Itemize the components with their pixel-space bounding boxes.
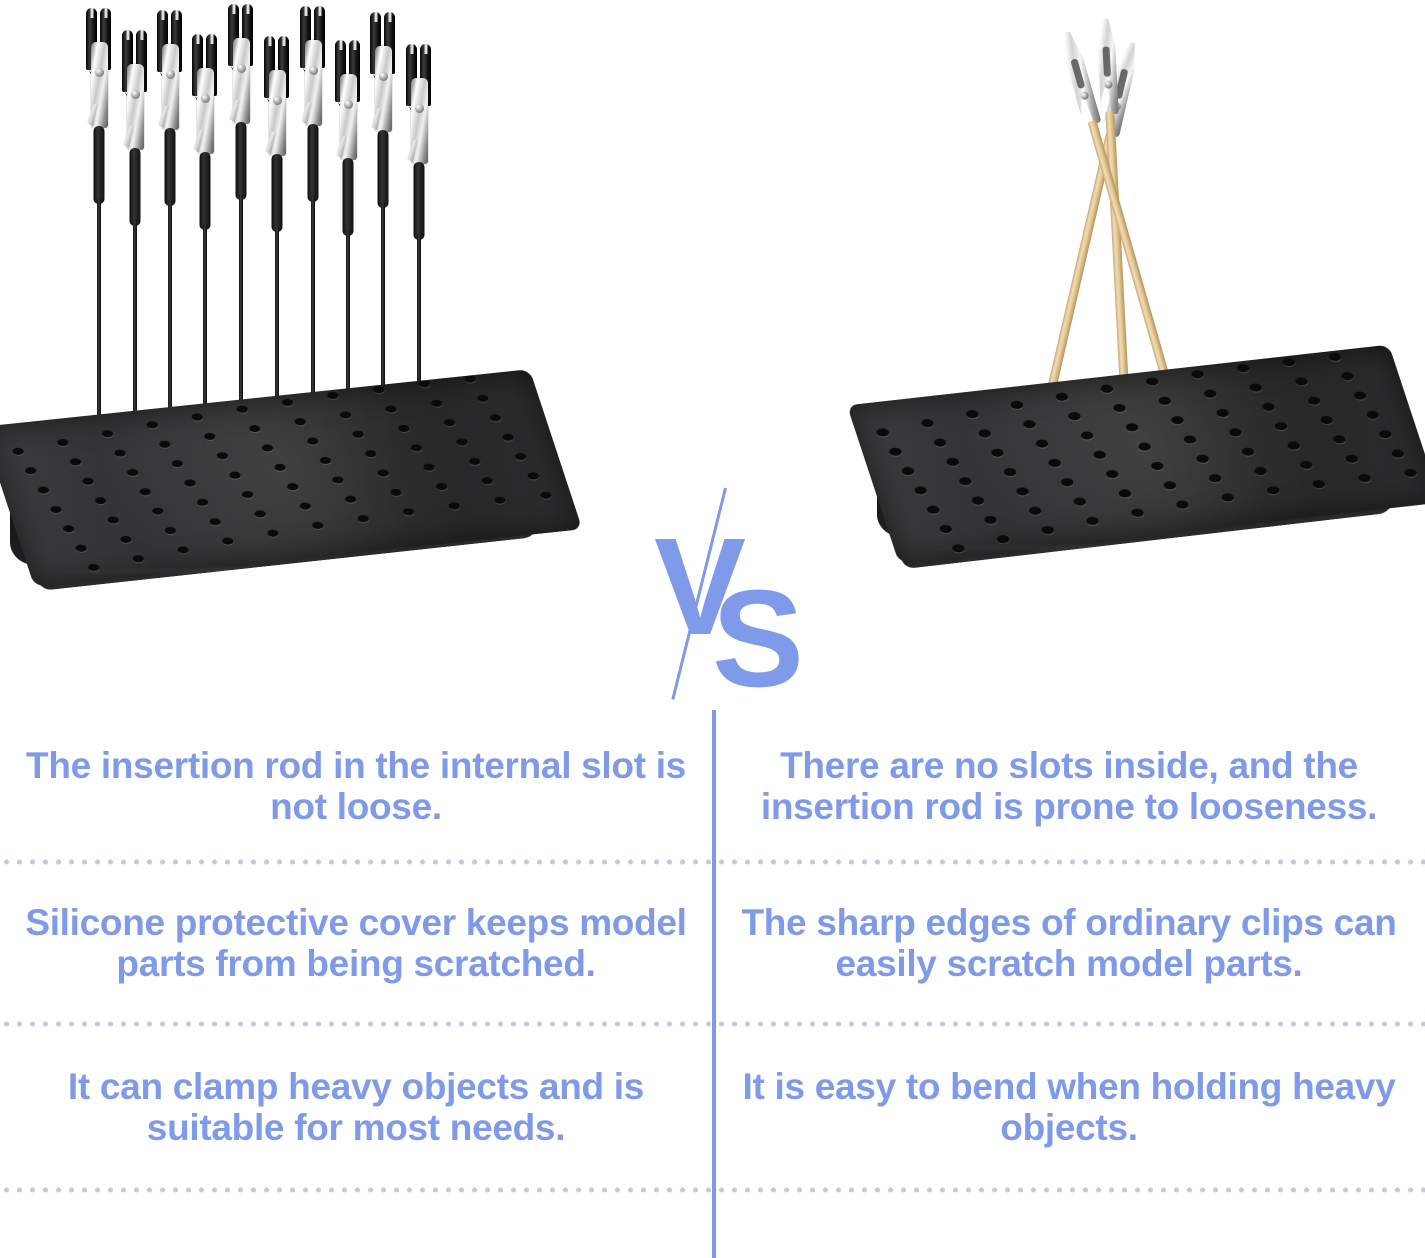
rod-grip xyxy=(236,122,247,200)
comparison-cell-left: It can clamp heavy objects and is suitab… xyxy=(0,1024,712,1190)
clip-rod-assembly xyxy=(226,4,256,444)
comparison-table: The insertion rod in the internal slot i… xyxy=(0,710,1425,1258)
comparison-cell-right: The sharp edges of ordinary clips can ea… xyxy=(713,862,1425,1024)
jaw-notch-icon xyxy=(210,34,213,44)
jaw-notch-icon xyxy=(410,44,413,54)
comparison-row: Silicone protective cover keeps model pa… xyxy=(0,862,1425,1024)
jaw-notch-icon xyxy=(374,12,377,22)
perforated-stand-base xyxy=(8,380,556,635)
right-product-image xyxy=(713,0,1425,710)
vs-letter-s: S xyxy=(712,570,802,708)
jaw-notch-icon xyxy=(175,10,178,20)
base-top-face xyxy=(847,345,1425,564)
base-top-face xyxy=(0,369,582,587)
rod-grip xyxy=(94,126,105,204)
jaw-notch-icon xyxy=(140,30,143,40)
comparison-cell-left: The insertion rod in the internal slot i… xyxy=(0,710,712,862)
clip-pivot-icon xyxy=(344,100,353,109)
comparison-cell-right: There are no slots inside, and the inser… xyxy=(713,710,1425,862)
jaw-notch-icon xyxy=(353,40,356,50)
alligator-clip-icon xyxy=(190,34,220,154)
rod-grip xyxy=(165,128,176,206)
jaw-notch-icon xyxy=(126,30,129,40)
feature-text-left: The insertion rod in the internal slot i… xyxy=(18,745,694,828)
row-separator xyxy=(0,1187,1425,1193)
comparison-row: The insertion rod in the internal slot i… xyxy=(0,710,1425,862)
rod-grip xyxy=(272,154,283,232)
jaw-notch-icon xyxy=(388,12,391,22)
jaw-notch-icon xyxy=(304,6,307,16)
alligator-clip-icon xyxy=(155,10,185,130)
alligator-clip-icon xyxy=(368,12,398,132)
alligator-clip-icon xyxy=(262,36,292,156)
rod-grip xyxy=(378,130,389,208)
alligator-clip-icon xyxy=(226,4,256,124)
clip-pivot-icon xyxy=(237,64,246,73)
rod-grip xyxy=(200,152,211,230)
left-product-image xyxy=(0,0,712,710)
rod-grip xyxy=(343,158,354,236)
alligator-clip-icon xyxy=(120,30,150,150)
vs-badge: V S xyxy=(648,492,798,707)
jaw-notch-icon xyxy=(246,4,249,14)
feature-text-right: It is easy to bend when holding heavy ob… xyxy=(731,1066,1407,1149)
clip-pivot-icon xyxy=(95,68,104,77)
jaw-notch-icon xyxy=(282,36,285,46)
comparison-cell-right: It is easy to bend when holding heavy ob… xyxy=(713,1024,1425,1190)
comparison-row: It can clamp heavy objects and is suitab… xyxy=(0,1024,1425,1190)
feature-text-left: It can clamp heavy objects and is suitab… xyxy=(18,1066,694,1149)
clip-pivot-icon xyxy=(273,96,282,105)
feature-text-right: The sharp edges of ordinary clips can ea… xyxy=(731,902,1407,985)
hole-grid xyxy=(0,369,582,587)
comparison-infographic: V S The insertion rod in the internal sl… xyxy=(0,0,1425,1258)
jaw-notch-icon xyxy=(104,8,107,18)
jaw-notch-icon xyxy=(424,44,427,54)
clip-rod-assembly xyxy=(155,10,185,440)
clip-pivot-icon xyxy=(379,72,388,81)
jaw-notch-icon xyxy=(196,34,199,44)
rod-grip xyxy=(414,162,425,240)
jaw-notch-icon xyxy=(318,6,321,16)
clip-pivot-icon xyxy=(166,70,175,79)
rod-grip xyxy=(308,124,319,202)
jaw-notch-icon xyxy=(161,10,164,20)
jaw-notch-icon xyxy=(90,8,93,18)
feature-text-left: Silicone protective cover keeps model pa… xyxy=(18,902,694,985)
alligator-clip-icon xyxy=(84,8,114,128)
feature-text-right: There are no slots inside, and the inser… xyxy=(731,745,1407,828)
clip-pivot-icon xyxy=(415,104,424,113)
alligator-clip-icon xyxy=(333,40,363,160)
clip-slot xyxy=(1102,46,1111,76)
jaw-notch-icon xyxy=(268,36,271,46)
alligator-clip-icon xyxy=(298,6,328,126)
clip-pivot-icon xyxy=(201,94,210,103)
rod-grip xyxy=(130,148,141,226)
comparison-cell-left: Silicone protective cover keeps model pa… xyxy=(0,862,712,1024)
jaw-notch-icon xyxy=(232,4,235,14)
perforated-stand-base xyxy=(873,355,1415,605)
hole-grid xyxy=(847,345,1425,564)
jaw-notch-icon xyxy=(339,40,342,50)
clip-pivot-icon xyxy=(309,66,318,75)
product-imagery-area: V S xyxy=(0,0,1425,710)
clip-pivot-icon xyxy=(131,90,140,99)
alligator-clip-icon xyxy=(404,44,434,164)
